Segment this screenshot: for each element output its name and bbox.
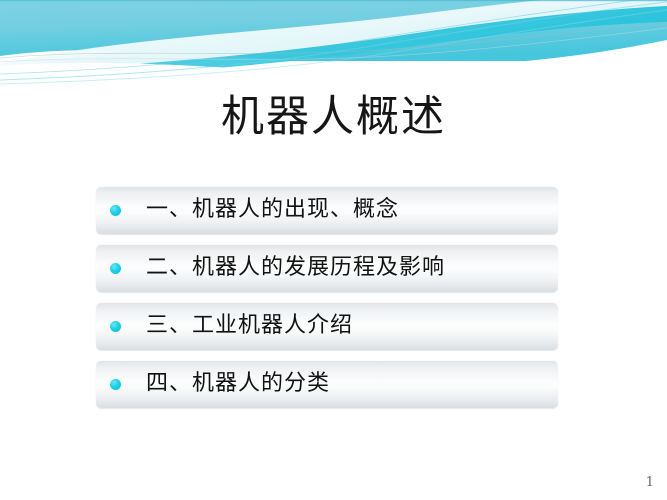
bullet-dot-icon (110, 263, 121, 274)
list-item-label: 二、机器人的发展历程及影响 (146, 254, 445, 282)
list-item-label: 三、工业机器人介绍 (146, 312, 353, 340)
list-item-label: 四、机器人的分类 (146, 370, 330, 398)
list-item[interactable]: 四、机器人的分类 (96, 360, 558, 408)
bullet-dot-icon (110, 205, 121, 216)
list-item-label: 一、机器人的出现、概念 (146, 196, 399, 224)
list-item[interactable]: 二、机器人的发展历程及影响 (96, 244, 558, 292)
list-item[interactable]: 三、工业机器人介绍 (96, 302, 558, 350)
slide-title: 机器人概述 (0, 88, 667, 146)
list-item[interactable]: 一、机器人的出现、概念 (96, 186, 558, 234)
wave-graphic (0, 0, 667, 86)
bullet-dot-icon (110, 321, 121, 332)
wave-header-decoration (0, 0, 667, 86)
presentation-slide: 机器人概述 一、机器人的出现、概念 二、机器人的发展历程及影响 三、工业机器人介… (0, 0, 667, 500)
page-number: 1 (646, 475, 654, 491)
bullet-dot-icon (110, 379, 121, 390)
outline-list: 一、机器人的出现、概念 二、机器人的发展历程及影响 三、工业机器人介绍 四、机器… (96, 186, 558, 408)
